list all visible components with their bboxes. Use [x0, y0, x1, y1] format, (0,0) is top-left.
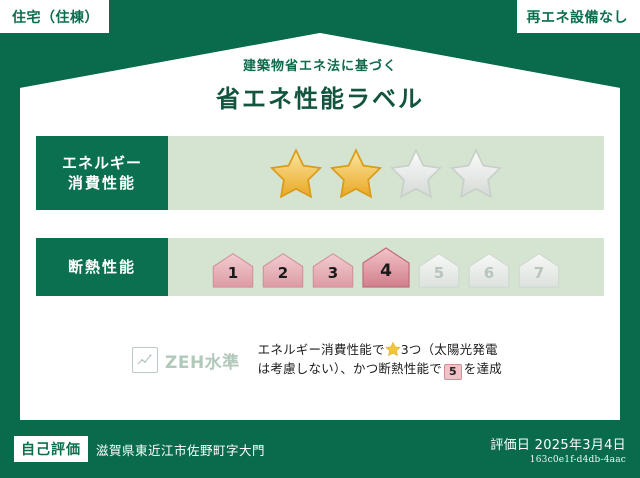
star-shape: [272, 150, 321, 197]
row-energy-label-line1: エネルギー: [62, 153, 142, 173]
house-shape-icon: [516, 252, 562, 288]
zeh-desc-line1-b: 3つ（太陽光発電: [401, 342, 498, 357]
house-shape-icon: [260, 252, 306, 288]
evaluation-id: 163c0e1f-d4db-4aac: [490, 455, 626, 465]
insulation-grade-badge-5: 5: [416, 252, 462, 288]
house-body: [263, 254, 302, 287]
house-shape-icon: [416, 252, 462, 288]
energy-star-rating: [168, 136, 604, 210]
zeh-desc-line2-a: は考慮しない）、かつ断熱性能で: [258, 361, 442, 376]
property-address: 滋賀県東近江市佐野町字大門: [96, 440, 265, 459]
title-subtitle: 建築物省エネ法に基づく: [0, 55, 640, 74]
row-insulation-label: 断熱性能: [68, 257, 136, 277]
insulation-grade-badge-2: 2: [260, 252, 306, 288]
star-shape: [452, 150, 501, 197]
zeh-standard-mark: ZEH水準: [132, 347, 240, 373]
star-empty-icon: [390, 147, 442, 199]
zeh-standard-label: ZEH水準: [165, 348, 240, 373]
star-filled-icon: [270, 147, 322, 199]
insulation-grade-badge-7: 7: [516, 252, 562, 288]
insulation-grade-badge-1: 1: [210, 252, 256, 288]
house-body: [519, 254, 558, 287]
evaluation-date: 評価日 2025年3月4日: [490, 434, 626, 453]
zeh-desc-line2-b: を達成: [464, 361, 502, 376]
house-body: [363, 248, 409, 287]
self-evaluation-badge: 自己評価: [14, 436, 88, 462]
row-insulation-performance: 断熱性能 1234567: [36, 238, 604, 296]
star-shape: [392, 150, 441, 197]
footer-meta: 評価日 2025年3月4日 163c0e1f-d4db-4aac: [490, 434, 626, 465]
tag-building-type-label: 住宅（住棟）: [12, 7, 99, 27]
row-energy-label-line2: 消費性能: [68, 173, 136, 193]
zeh-desc-grade-chip: 5: [444, 364, 462, 380]
insulation-grade-badge-4: 4: [360, 246, 412, 288]
house-shape-icon: [210, 252, 256, 288]
zeh-chart-icon-glyph: [137, 353, 153, 367]
house-body: [313, 254, 352, 287]
house-shape-icon: [360, 246, 412, 288]
row-energy-performance: エネルギー 消費性能: [36, 136, 604, 210]
row-energy-performance-label: エネルギー 消費性能: [36, 136, 168, 210]
star-empty-icon: [450, 147, 502, 199]
star-shape: [332, 150, 381, 197]
zeh-standard-description: エネルギー消費性能で3つ（太陽光発電 は考慮しない）、かつ断熱性能で5を達成: [258, 340, 502, 380]
house-shape-icon: [466, 252, 512, 288]
insulation-grade-scale: 1234567: [168, 238, 604, 296]
zeh-desc-line1-a: エネルギー消費性能で: [258, 342, 385, 357]
row-insulation-performance-label: 断熱性能: [36, 238, 168, 296]
label-footer: 自己評価 滋賀県東近江市佐野町字大門 評価日 2025年3月4日 163c0e1…: [0, 420, 640, 478]
house-body: [213, 254, 252, 287]
tag-renewable-equipment: 再エネ設備なし: [517, 0, 640, 33]
zeh-standard-section: ZEH水準 エネルギー消費性能で3つ（太陽光発電 は考慮しない）、かつ断熱性能で…: [36, 330, 604, 390]
insulation-grade-badge-3: 3: [310, 252, 356, 288]
tag-renewable-equipment-label: 再エネ設備なし: [527, 7, 629, 27]
zeh-chart-icon: [132, 347, 158, 373]
star-filled-icon: [330, 147, 382, 199]
label-title-block: 建築物省エネ法に基づく 省エネ性能ラベル: [0, 55, 640, 114]
inline-star-icon: [385, 341, 401, 357]
house-body: [469, 254, 508, 287]
tag-building-type: 住宅（住棟）: [0, 0, 109, 33]
insulation-grade-badge-6: 6: [466, 252, 512, 288]
house-shape-icon: [310, 252, 356, 288]
house-body: [419, 254, 458, 287]
energy-performance-label: 住宅（住棟） 再エネ設備なし 建築物省エネ法に基づく 省エネ性能ラベル エネルギ…: [0, 0, 640, 478]
page-title: 省エネ性能ラベル: [0, 79, 640, 114]
